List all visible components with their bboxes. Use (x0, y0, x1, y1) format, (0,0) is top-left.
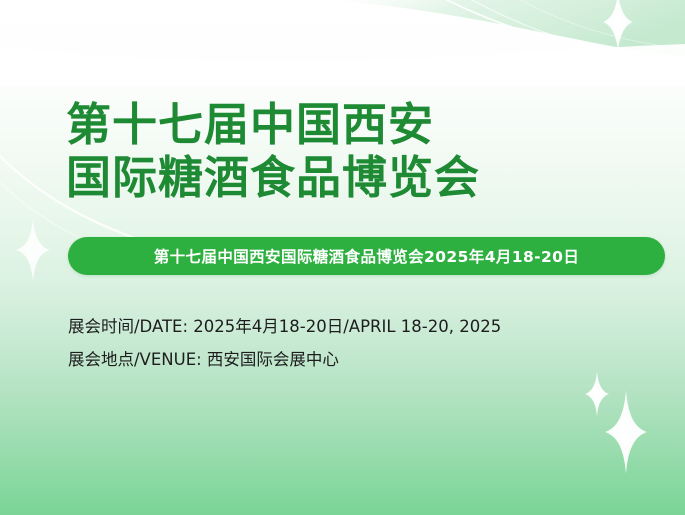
sparkle-top-right (603, 0, 633, 51)
top-curved-band (250, 0, 685, 64)
title-line-2: 国际糖酒食品博览会 (66, 151, 480, 204)
event-banner-text: 第十七届中国西安国际糖酒食品博览会2025年4月18-20日 (154, 245, 580, 267)
swoosh-lines-top-right (447, 0, 678, 60)
event-banner-pill[interactable]: 第十七届中国西安国际糖酒食品博览会2025年4月18-20日 (68, 237, 665, 275)
sparkle-bottom-right-large (605, 390, 647, 474)
sparkle-bottom-right-small (585, 371, 609, 417)
event-date-line: 展会时间/DATE: 2025年4月18-20日/APRIL 18-20, 20… (68, 310, 501, 343)
event-venue-line: 展会地点/VENUE: 西安国际会展中心 (68, 343, 501, 376)
sparkle-left (16, 219, 50, 281)
title-line-1: 第十七届中国西安 (66, 98, 480, 151)
event-poster: 第十七届中国西安 国际糖酒食品博览会 第十七届中国西安国际糖酒食品博览会2025… (0, 0, 685, 515)
poster-title: 第十七届中国西安 国际糖酒食品博览会 (66, 98, 480, 204)
band-lower-edge (0, 44, 685, 86)
event-info: 展会时间/DATE: 2025年4月18-20日/APRIL 18-20, 20… (68, 310, 501, 376)
